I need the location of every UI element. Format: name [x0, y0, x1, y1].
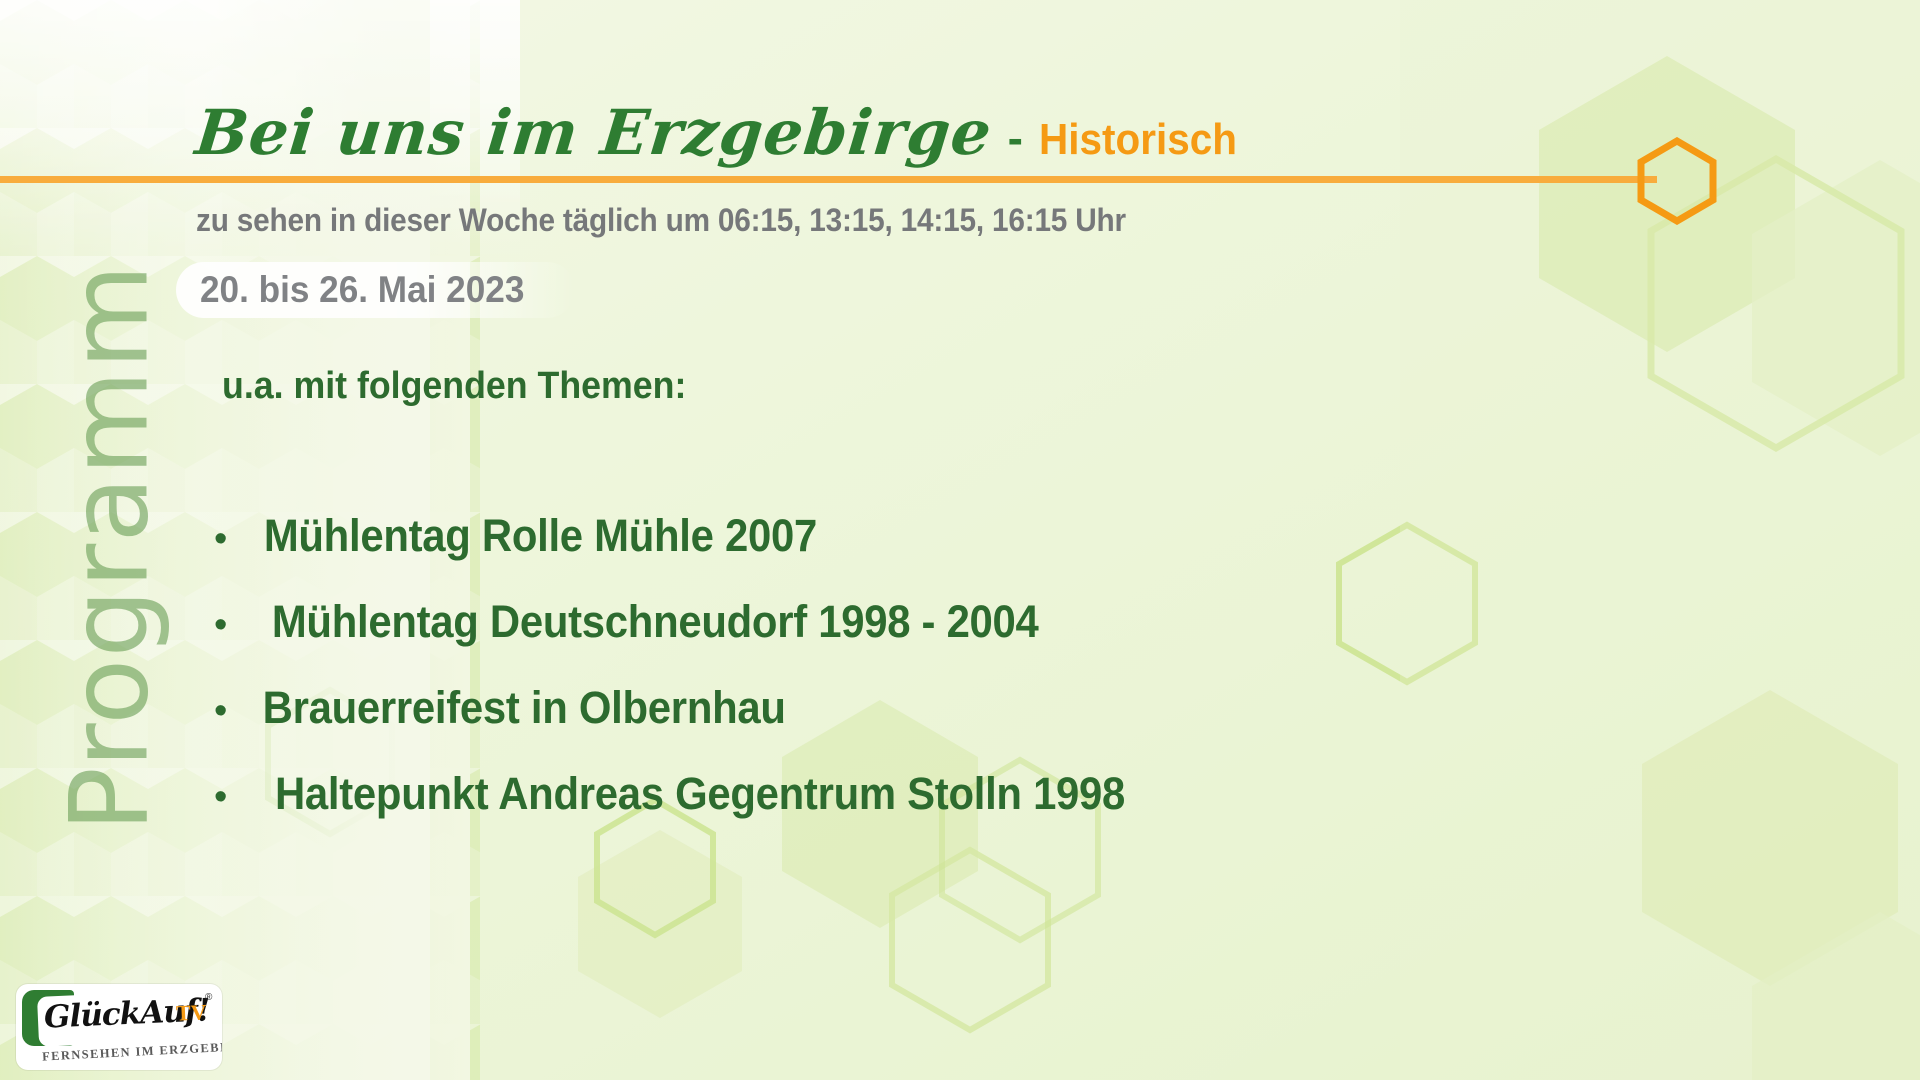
title-script-text: Bei uns im Erzgebirge: [192, 96, 995, 169]
list-item: • Brauerreifest in Olbernhau: [214, 682, 1157, 734]
list-item: • Haltepunkt Andreas Gegentrum Stolln 19…: [214, 768, 1157, 820]
list-item-label: Mühlentag Deutschneudorf 1998 - 2004: [272, 596, 1039, 648]
bullet-icon: •: [214, 606, 227, 644]
page-title: Bei uns im Erzgebirge - Historisch: [196, 96, 1254, 169]
title-accent-text: Historisch: [1039, 115, 1237, 165]
list-item-label: Haltepunkt Andreas Gegentrum Stolln 1998: [275, 768, 1125, 820]
broadcast-times-subtitle: zu sehen in dieser Woche täglich um 06:1…: [196, 202, 1126, 239]
bullet-icon: •: [214, 778, 227, 816]
logo-tv-suffix: TV: [175, 999, 207, 1026]
logo-inner: GlückAuf! TV ® FERNSEHEN IM ERZGEBIRGE: [16, 984, 222, 1070]
date-range-text: 20. bis 26. Mai 2023: [200, 269, 524, 311]
channel-logo: GlückAuf! TV ® FERNSEHEN IM ERZGEBIRGE: [16, 984, 222, 1070]
title-dash: -: [992, 111, 1039, 165]
list-item-label: Mühlentag Rolle Mühle 2007: [264, 510, 817, 562]
date-range-badge: 20. bis 26. Mai 2023: [176, 262, 575, 318]
registered-mark-icon: ®: [205, 992, 212, 1003]
vertical-programm-label: Programm: [48, 228, 173, 868]
orange-hexagon-icon: [1636, 137, 1718, 225]
broadcast-program-slide: Programm Bei uns im Erzgebirge - Histori…: [0, 0, 1920, 1080]
topics-intro-text: u.a. mit folgenden Themen:: [222, 365, 686, 408]
orange-divider-rule: [0, 176, 1657, 183]
bullet-icon: •: [214, 692, 227, 730]
topics-list: • Mühlentag Rolle Mühle 2007 • Mühlentag…: [214, 510, 1157, 854]
bullet-icon: •: [214, 520, 227, 558]
list-item: • Mühlentag Rolle Mühle 2007: [214, 510, 1157, 562]
list-item-label: Brauerreifest in Olbernhau: [263, 682, 786, 734]
list-item: • Mühlentag Deutschneudorf 1998 - 2004: [214, 596, 1157, 648]
